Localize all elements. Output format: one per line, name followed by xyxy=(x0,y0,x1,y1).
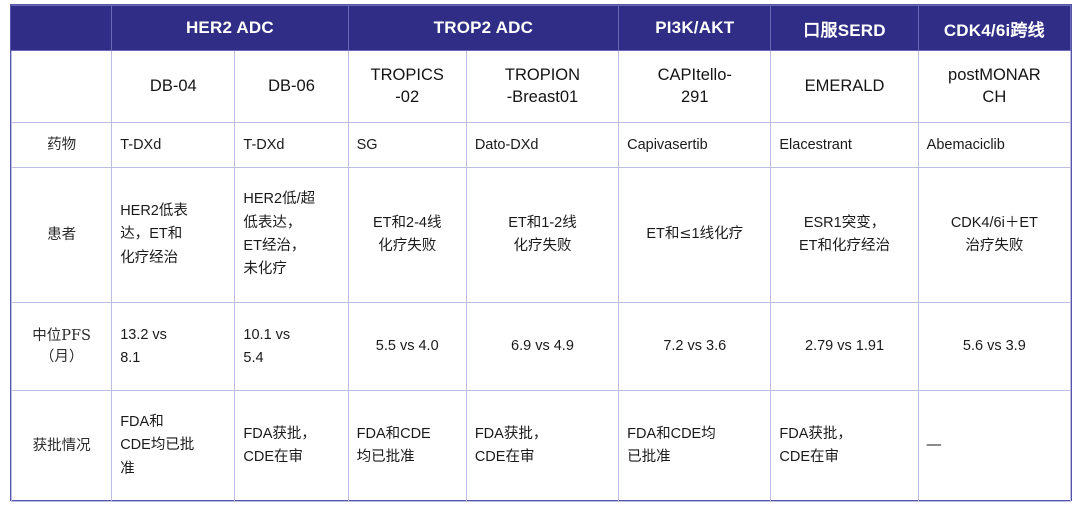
header-group-cdk46i-cjk: 跨线 xyxy=(1010,21,1044,41)
header-group-cdk46i-crossline: CDK4/6i跨线 xyxy=(918,6,1070,51)
approval-tropion-breast01: FDA获批，CDE在审 xyxy=(466,391,618,502)
row-label-approval-status: 获批情况 xyxy=(12,391,112,502)
patients-db-04: HER2低表达，ET和化疗经治 xyxy=(112,168,235,303)
pfs-postmonarch: 5.6 vs 3.9 xyxy=(918,303,1070,391)
table-header-group-row: HER2 ADC TROP2 ADC PI3K/AKT 口服SERD CDK4/… xyxy=(12,6,1071,51)
header-group-cdk46i-latin: CDK4/6i xyxy=(944,21,1011,40)
drug-db-06: T-DXd xyxy=(235,123,348,168)
table-row-median-pfs: 中位PFS（月） 13.2 vs8.1 10.1 vs5.4 5.5 vs 4.… xyxy=(12,303,1071,391)
patients-emerald: ESR1突变，ET和化疗经治 xyxy=(771,168,918,303)
row-label-drugs: 药物 xyxy=(12,123,112,168)
comparison-table-container: HER2 ADC TROP2 ADC PI3K/AKT 口服SERD CDK4/… xyxy=(10,4,1072,501)
approval-capitello-291: FDA和CDE均已批准 xyxy=(619,391,771,502)
trial-db-06: DB-06 xyxy=(235,51,348,123)
drug-db-04: T-DXd xyxy=(112,123,235,168)
trial-postmonarch: postMONARCH xyxy=(918,51,1070,123)
header-group-trop2-adc: TROP2 ADC xyxy=(348,6,619,51)
approval-db-06: FDA获批，CDE在审 xyxy=(235,391,348,502)
patients-postmonarch: CDK4/6i＋ET治疗失败 xyxy=(918,168,1070,303)
header-group-her2-adc: HER2 ADC xyxy=(112,6,348,51)
patients-capitello-291: ET和≤1线化疗 xyxy=(619,168,771,303)
drug-postmonarch: Abemaciclib xyxy=(918,123,1070,168)
header-group-oral-serd: 口服SERD xyxy=(771,6,918,51)
pfs-tropion-breast01: 6.9 vs 4.9 xyxy=(466,303,618,391)
approval-db-04: FDA和CDE均已批准 xyxy=(112,391,235,502)
row-label-median-pfs: 中位PFS（月） xyxy=(12,303,112,391)
trial-tropics-02: TROPICS-02 xyxy=(348,51,466,123)
trial-db-04: DB-04 xyxy=(112,51,235,123)
row-label-patients: 患者 xyxy=(12,168,112,303)
drug-tropics-02: SG xyxy=(348,123,466,168)
approval-emerald: FDA获批，CDE在审 xyxy=(771,391,918,502)
trial-tropion-breast01: TROPION-Breast01 xyxy=(466,51,618,123)
pfs-emerald: 2.79 vs 1.91 xyxy=(771,303,918,391)
header-corner-blank xyxy=(12,6,112,51)
trial-capitello-291: CAPItello-291 xyxy=(619,51,771,123)
table-row-patients: 患者 HER2低表达，ET和化疗经治 HER2低/超低表达，ET经治，未化疗 E… xyxy=(12,168,1071,303)
drug-capitello-291: Capivasertib xyxy=(619,123,771,168)
trial-emerald: EMERALD xyxy=(771,51,918,123)
table-row-drugs: 药物 T-DXd T-DXd SG Dato-DXd Capivasertib … xyxy=(12,123,1071,168)
drug-tropion-breast01: Dato-DXd xyxy=(466,123,618,168)
treatment-comparison-table: HER2 ADC TROP2 ADC PI3K/AKT 口服SERD CDK4/… xyxy=(11,5,1071,502)
pfs-tropics-02: 5.5 vs 4.0 xyxy=(348,303,466,391)
approval-postmonarch: — xyxy=(918,391,1070,502)
header-group-oral-serd-cjk: 口服 xyxy=(803,21,837,41)
header-group-oral-serd-latin: SERD xyxy=(838,21,886,40)
pfs-capitello-291: 7.2 vs 3.6 xyxy=(619,303,771,391)
patients-db-06: HER2低/超低表达，ET经治，未化疗 xyxy=(235,168,348,303)
patients-tropion-breast01: ET和1-2线化疗失败 xyxy=(466,168,618,303)
table-row-approval-status: 获批情况 FDA和CDE均已批准 FDA获批，CDE在审 FDA和CDE均已批准… xyxy=(12,391,1071,502)
row-label-trials xyxy=(12,51,112,123)
pfs-db-06: 10.1 vs5.4 xyxy=(235,303,348,391)
table-row-trials: DB-04 DB-06 TROPICS-02 TROPION-Breast01 … xyxy=(12,51,1071,123)
approval-tropics-02: FDA和CDE均已批准 xyxy=(348,391,466,502)
patients-tropics-02: ET和2-4线化疗失败 xyxy=(348,168,466,303)
header-group-pi3k-akt: PI3K/AKT xyxy=(619,6,771,51)
drug-emerald: Elacestrant xyxy=(771,123,918,168)
pfs-db-04: 13.2 vs8.1 xyxy=(112,303,235,391)
